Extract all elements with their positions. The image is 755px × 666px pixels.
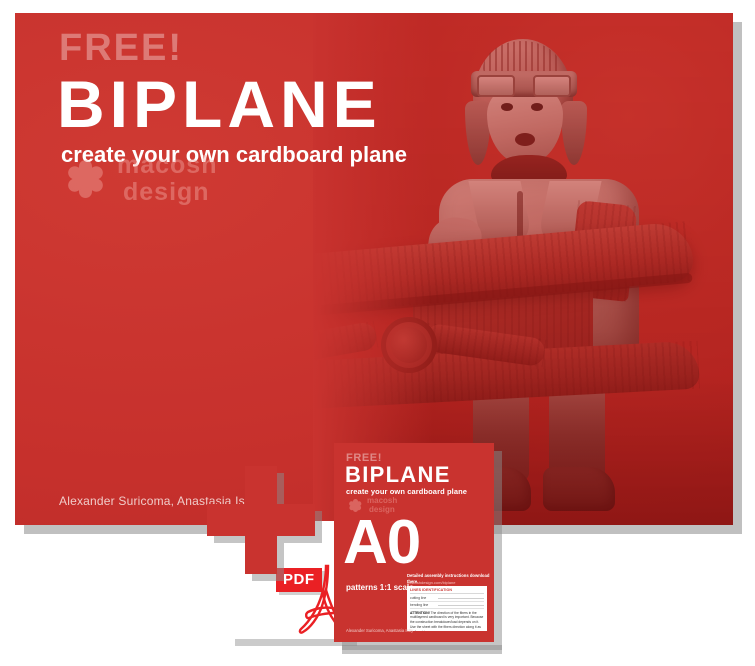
a0-shadow-plate — [342, 645, 502, 654]
a0-title: BIPLANE — [345, 464, 451, 486]
a0-credits: Alexander Suricoma, Anastasia Istry — [346, 628, 413, 633]
canvas: FREE! BIPLANE create your own cardboard … — [0, 0, 755, 666]
a0-scale-label: patterns 1:1 scale — [346, 583, 414, 592]
a0-panel-row-key: cutting line — [410, 596, 436, 600]
brand-logo[interactable]: macosh design — [61, 153, 217, 205]
a0-panel-body: ATTENTION! The direction of the fibers i… — [410, 611, 484, 631]
free-label: FREE! — [59, 29, 407, 67]
a0-legend-panel: LINES IDENTIFICATION cutting line bendin… — [407, 586, 487, 631]
page-title: BIPLANE — [57, 71, 407, 138]
a0-tagline: create your own cardboard plane — [346, 487, 467, 496]
plus-horizontal-bar — [207, 504, 315, 536]
asterisk-flower-icon — [61, 155, 109, 203]
a0-size-label: A0 — [343, 517, 420, 570]
a0-panel-row: bending line — [410, 602, 484, 609]
brand-wordmark: macosh design — [117, 153, 217, 205]
a0-panel-body-strong: ATTENTION! — [410, 611, 430, 615]
brand-name-line2: design — [123, 180, 217, 205]
a0-panel-title: LINES IDENTIFICATION — [410, 588, 484, 594]
brand-name-line1: macosh — [117, 153, 217, 178]
a0-poster-thumbnail[interactable]: FREE! BIPLANE create your own cardboard … — [334, 443, 494, 642]
poster-headline-block: FREE! BIPLANE create your own cardboard … — [57, 29, 407, 168]
a0-instructions-url[interactable]: macoshdesign.com/biplane — [407, 580, 491, 586]
a0-panel-row-line — [438, 605, 484, 606]
a0-panel-row-key: bending line — [410, 603, 436, 607]
a0-panel-row-line — [438, 598, 484, 599]
a0-brand-line1: macosh — [367, 497, 397, 505]
a0-panel-row: cutting line — [410, 596, 484, 603]
plus-separator-icon — [207, 466, 315, 574]
